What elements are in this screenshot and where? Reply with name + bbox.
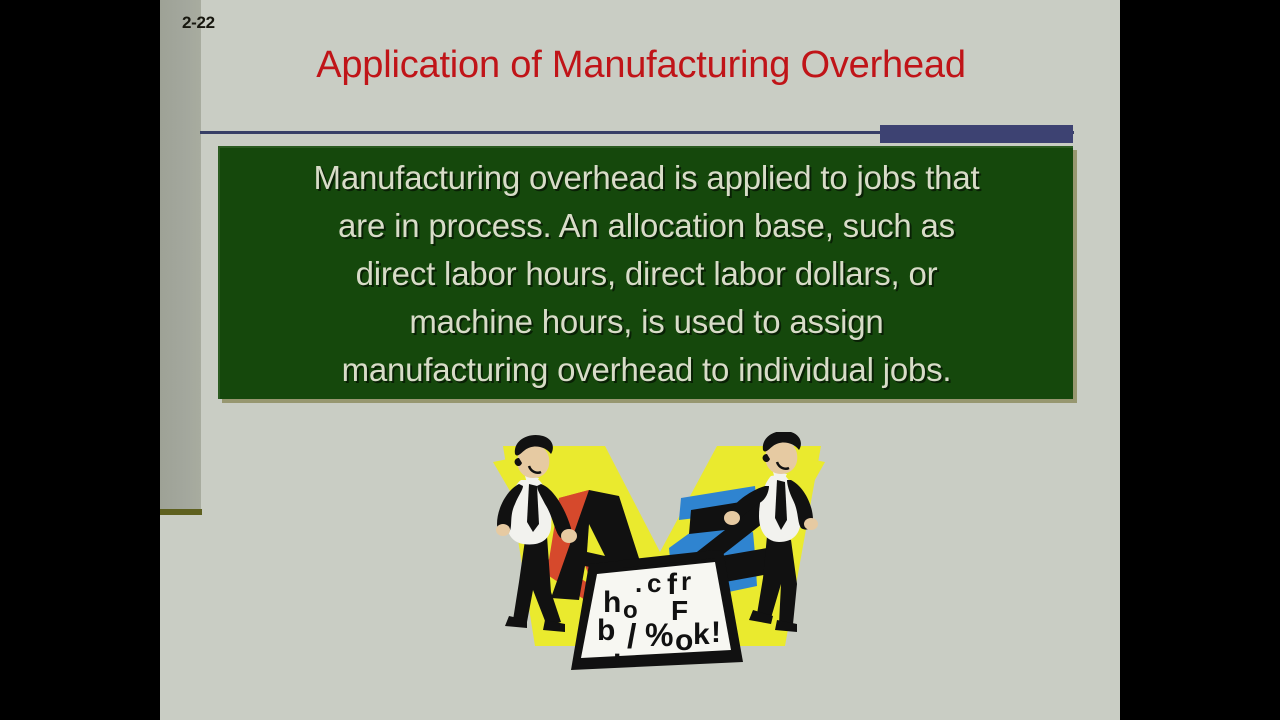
svg-text:c: c [647, 568, 661, 598]
page-title: Application of Manufacturing Overhead [201, 44, 1081, 87]
svg-text:o: o [675, 624, 693, 657]
svg-text:r: r [681, 566, 691, 596]
content-line: Manufacturing overhead is applied to job… [237, 154, 1057, 202]
title-accent-block [880, 125, 1073, 143]
content-line: manufacturing overhead to individual job… [237, 346, 1057, 394]
content-line: direct labor hours, direct labor dollars… [237, 250, 1057, 298]
content-body-text: Manufacturing overhead is applied to job… [237, 154, 1057, 394]
content-line: machine hours, is used to assign [237, 298, 1057, 346]
businessmen-letters-clipart: h o . c f r F b , / % o k ! [485, 432, 835, 677]
presentation-slide: 2-22 Application of Manufacturing Overhe… [160, 0, 1120, 720]
svg-text:.: . [635, 568, 642, 598]
content-box: Manufacturing overhead is applied to job… [218, 146, 1073, 399]
letters-sign: h o . c f r F b , / % o k ! [571, 550, 743, 670]
svg-text:k: k [693, 618, 710, 651]
svg-text:/: / [627, 618, 637, 656]
slide-left-decorative-band [160, 0, 201, 512]
slide-number: 2-22 [182, 13, 215, 33]
svg-text:%: % [645, 617, 673, 653]
svg-text:!: ! [711, 616, 721, 649]
video-viewport: 2-22 Application of Manufacturing Overhe… [0, 0, 1280, 720]
slide-left-band-footer-rule [160, 509, 202, 515]
svg-text:F: F [671, 595, 688, 626]
svg-text:,: , [613, 632, 621, 665]
content-line: are in process. An allocation base, such… [237, 202, 1057, 250]
